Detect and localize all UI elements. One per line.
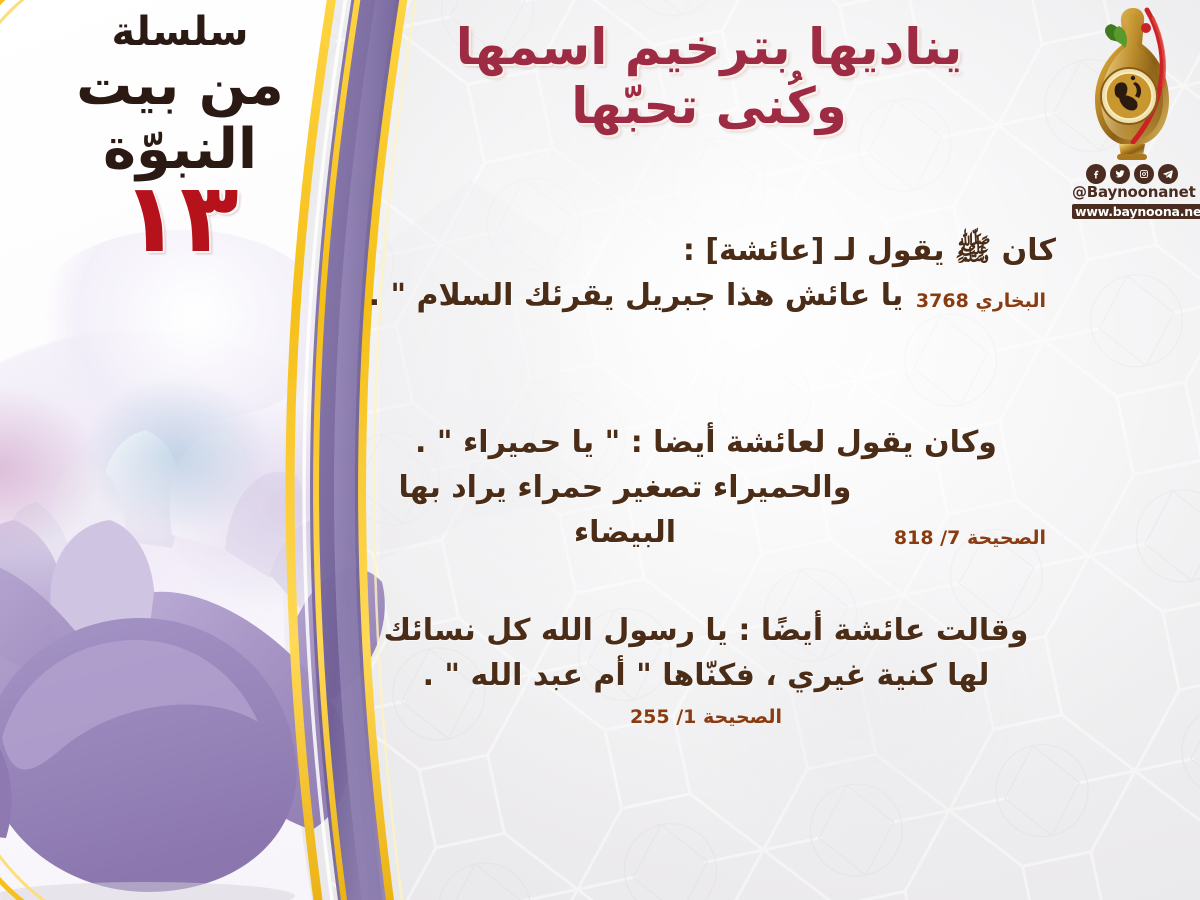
hadith-3-line-2: لها كنية غيري ، فكنّاها " أم عبد الله " …	[356, 653, 1056, 698]
facebook-icon[interactable]	[1086, 164, 1106, 184]
brand-block[interactable]: @Baynoonanet www.baynoona.net	[1072, 4, 1192, 219]
hadith-3-line-1: وقالت عائشة أيضًا : يا رسول الله كل نسائ…	[356, 608, 1056, 653]
hadith-2-reference: الصحيحة 7/ 818	[894, 527, 1056, 555]
social-links[interactable]	[1072, 164, 1192, 184]
series-title: سلسلة من بيت النبوّة	[55, 12, 305, 182]
poster-canvas: سلسلة من بيت النبوّة ١٣	[0, 0, 1200, 900]
twitter-icon[interactable]	[1110, 164, 1130, 184]
hadith-2-line-2: والحميراء تصغير حمراء يراد بها البيضاء	[356, 465, 894, 555]
baynoona-logo-icon[interactable]	[1089, 4, 1175, 162]
content-column: يناديها بترخيم اسمها وكُنى تحبّها كان ﷺ …	[330, 0, 1070, 900]
telegram-icon[interactable]	[1158, 164, 1178, 184]
hadith-3-reference: الصحيحة 1/ 255	[356, 706, 1056, 728]
hadith-1-reference: البخاري 3768	[916, 290, 1056, 318]
brand-handle[interactable]: @Baynoonanet	[1072, 185, 1192, 201]
hadith-block-2: وكان يقول لعائشة أيضا : " يا حميراء " . …	[356, 420, 1056, 555]
hadith-block-3: وقالت عائشة أيضًا : يا رسول الله كل نسائ…	[356, 608, 1056, 728]
hadith-2-line-1: وكان يقول لعائشة أيضا : " يا حميراء " .	[356, 420, 1056, 465]
series-number: ١٣	[60, 170, 300, 266]
series-title-line1: سلسلة	[55, 12, 305, 52]
instagram-icon[interactable]	[1134, 164, 1154, 184]
hadith-block-1: كان ﷺ يقول لـ [عائشة] : البخاري 3768 يا …	[356, 228, 1056, 318]
headline-line-2: وكُنى تحبّها	[364, 77, 1054, 136]
brand-website[interactable]: www.baynoona.net	[1072, 204, 1200, 219]
lotus-background-haze	[0, 320, 340, 620]
page-title: يناديها بترخيم اسمها وكُنى تحبّها	[364, 18, 1054, 136]
hadith-1-line-1: كان ﷺ يقول لـ [عائشة] :	[356, 228, 1056, 273]
headline-line-1: يناديها بترخيم اسمها	[456, 18, 963, 76]
hadith-1-line-2: يا عائش هذا جبريل يقرئك السلام " .	[356, 273, 916, 318]
